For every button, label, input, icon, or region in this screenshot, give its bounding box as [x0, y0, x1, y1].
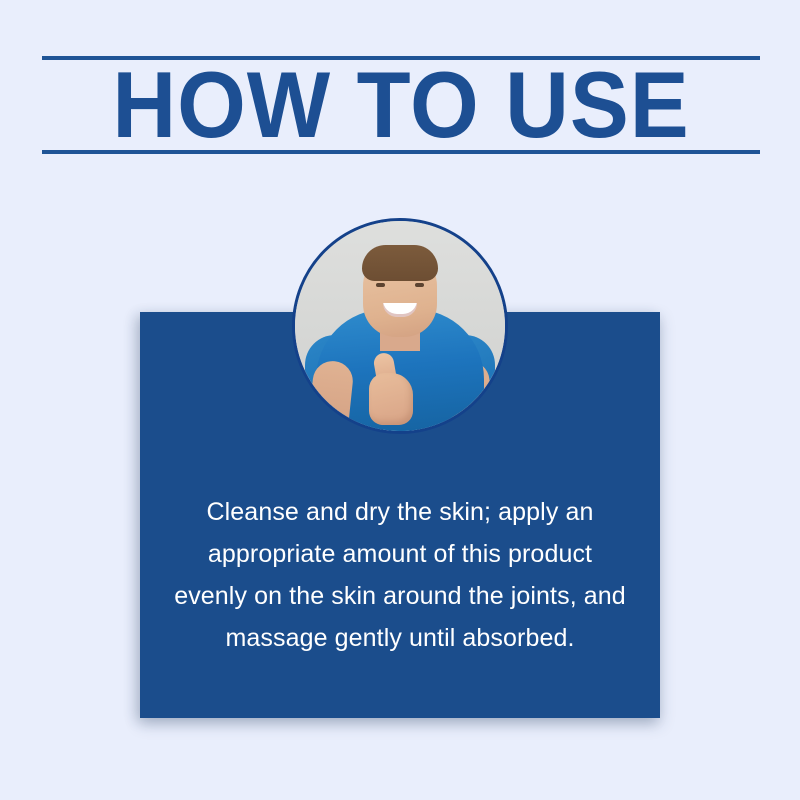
header-block: HOW TO USE: [42, 56, 760, 154]
how-to-use-poster: HOW TO USE Cleanse and dry the skin; app…: [0, 0, 800, 800]
portrait-photo: [295, 221, 505, 431]
portrait-avatar: [292, 218, 508, 434]
title-rule-bottom: [42, 150, 760, 154]
eye-left: [376, 283, 385, 287]
hand: [369, 373, 413, 425]
instruction-text: Cleanse and dry the skin; apply an appro…: [168, 491, 632, 659]
eye-right: [415, 283, 424, 287]
hair: [362, 245, 438, 281]
arm-left: [307, 359, 355, 434]
page-title: HOW TO USE: [64, 56, 739, 154]
